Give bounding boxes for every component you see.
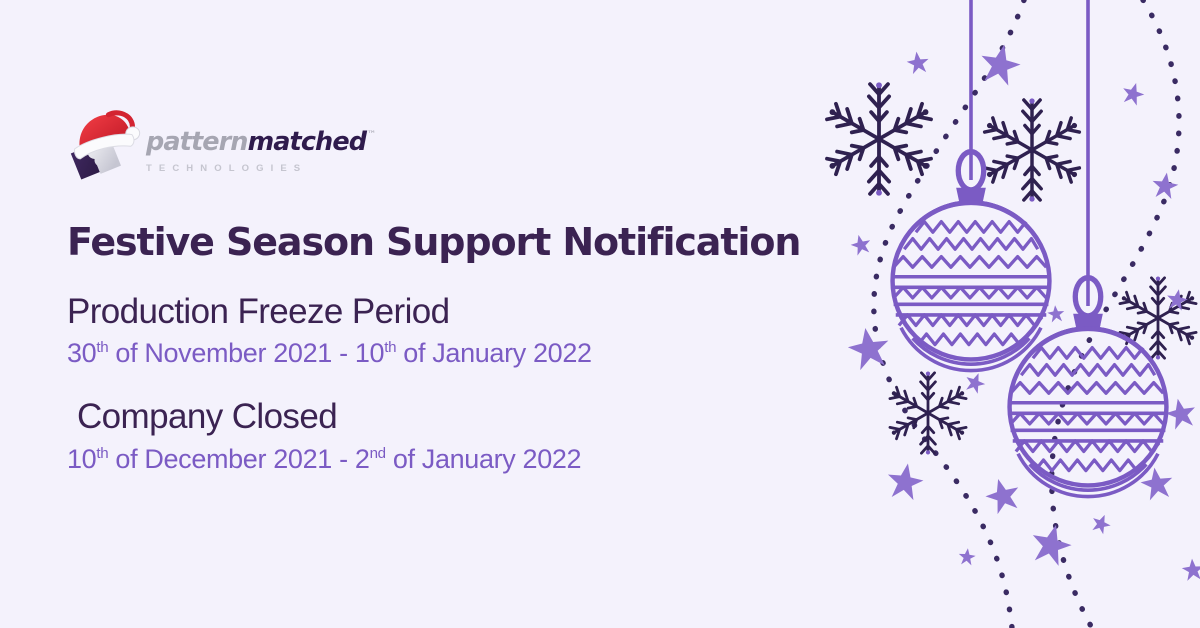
freeze-end-day: 10 [355, 338, 384, 368]
section-company-closed: Company Closed 10th of December 2021 - 2… [67, 397, 857, 475]
trademark-icon: ™ [367, 130, 375, 140]
hanging-bauble-lower [1010, 278, 1167, 497]
snowflake-mid [888, 372, 967, 455]
closed-start-day: 10 [67, 444, 96, 474]
brand-logo[interactable]: patternmatched™ TECHNOLOGIES [58, 108, 358, 198]
snowflake-top-right [983, 98, 1082, 201]
freeze-start-day: 30 [67, 338, 96, 368]
notification-content: Festive Season Support Notification Prod… [67, 222, 857, 475]
brand-wordmark: patternmatched™ TECHNOLOGIES [146, 130, 376, 174]
section-dates-company-closed: 10th of December 2021 - 2nd of January 2… [67, 443, 857, 475]
section-heading-company-closed: Company Closed [67, 397, 857, 436]
section-heading-production-freeze: Production Freeze Period [67, 292, 857, 331]
freeze-date-separator: - [332, 338, 355, 368]
star-cluster [845, 40, 1200, 581]
dotted-curve-right [1052, 0, 1179, 628]
patternmatched-puzzle-logo-with-santa-hat-icon [58, 110, 146, 196]
brand-tagline: TECHNOLOGIES [146, 163, 376, 174]
closed-start-rest: of December 2021 [108, 444, 332, 474]
snowflake-top-left [825, 82, 933, 195]
freeze-start-suffix: th [96, 339, 108, 356]
snowflake-right-edge [1118, 277, 1197, 360]
closed-start-suffix: th [96, 445, 108, 462]
hanging-bauble-upper [893, 152, 1050, 371]
closed-end-rest: of January 2022 [386, 444, 582, 474]
closed-date-separator: - [332, 444, 355, 474]
freeze-end-rest: of January 2022 [396, 338, 592, 368]
section-production-freeze: Production Freeze Period 30th of Novembe… [67, 292, 857, 370]
wordmark-matched: matched [248, 127, 367, 157]
closed-end-suffix: nd [370, 445, 386, 462]
bauble-string [971, 0, 1088, 306]
section-dates-production-freeze: 30th of November 2021 - 10th of January … [67, 337, 857, 369]
closed-end-day: 2 [355, 444, 370, 474]
wordmark-pattern: pattern [146, 127, 248, 157]
freeze-end-suffix: th [384, 339, 396, 356]
dotted-curve-left [874, 0, 1024, 628]
freeze-start-rest: of November 2021 [108, 338, 332, 368]
festive-notification-banner: patternmatched™ TECHNOLOGIES Festive Sea… [0, 0, 1200, 628]
page-title: Festive Season Support Notification [67, 222, 857, 264]
